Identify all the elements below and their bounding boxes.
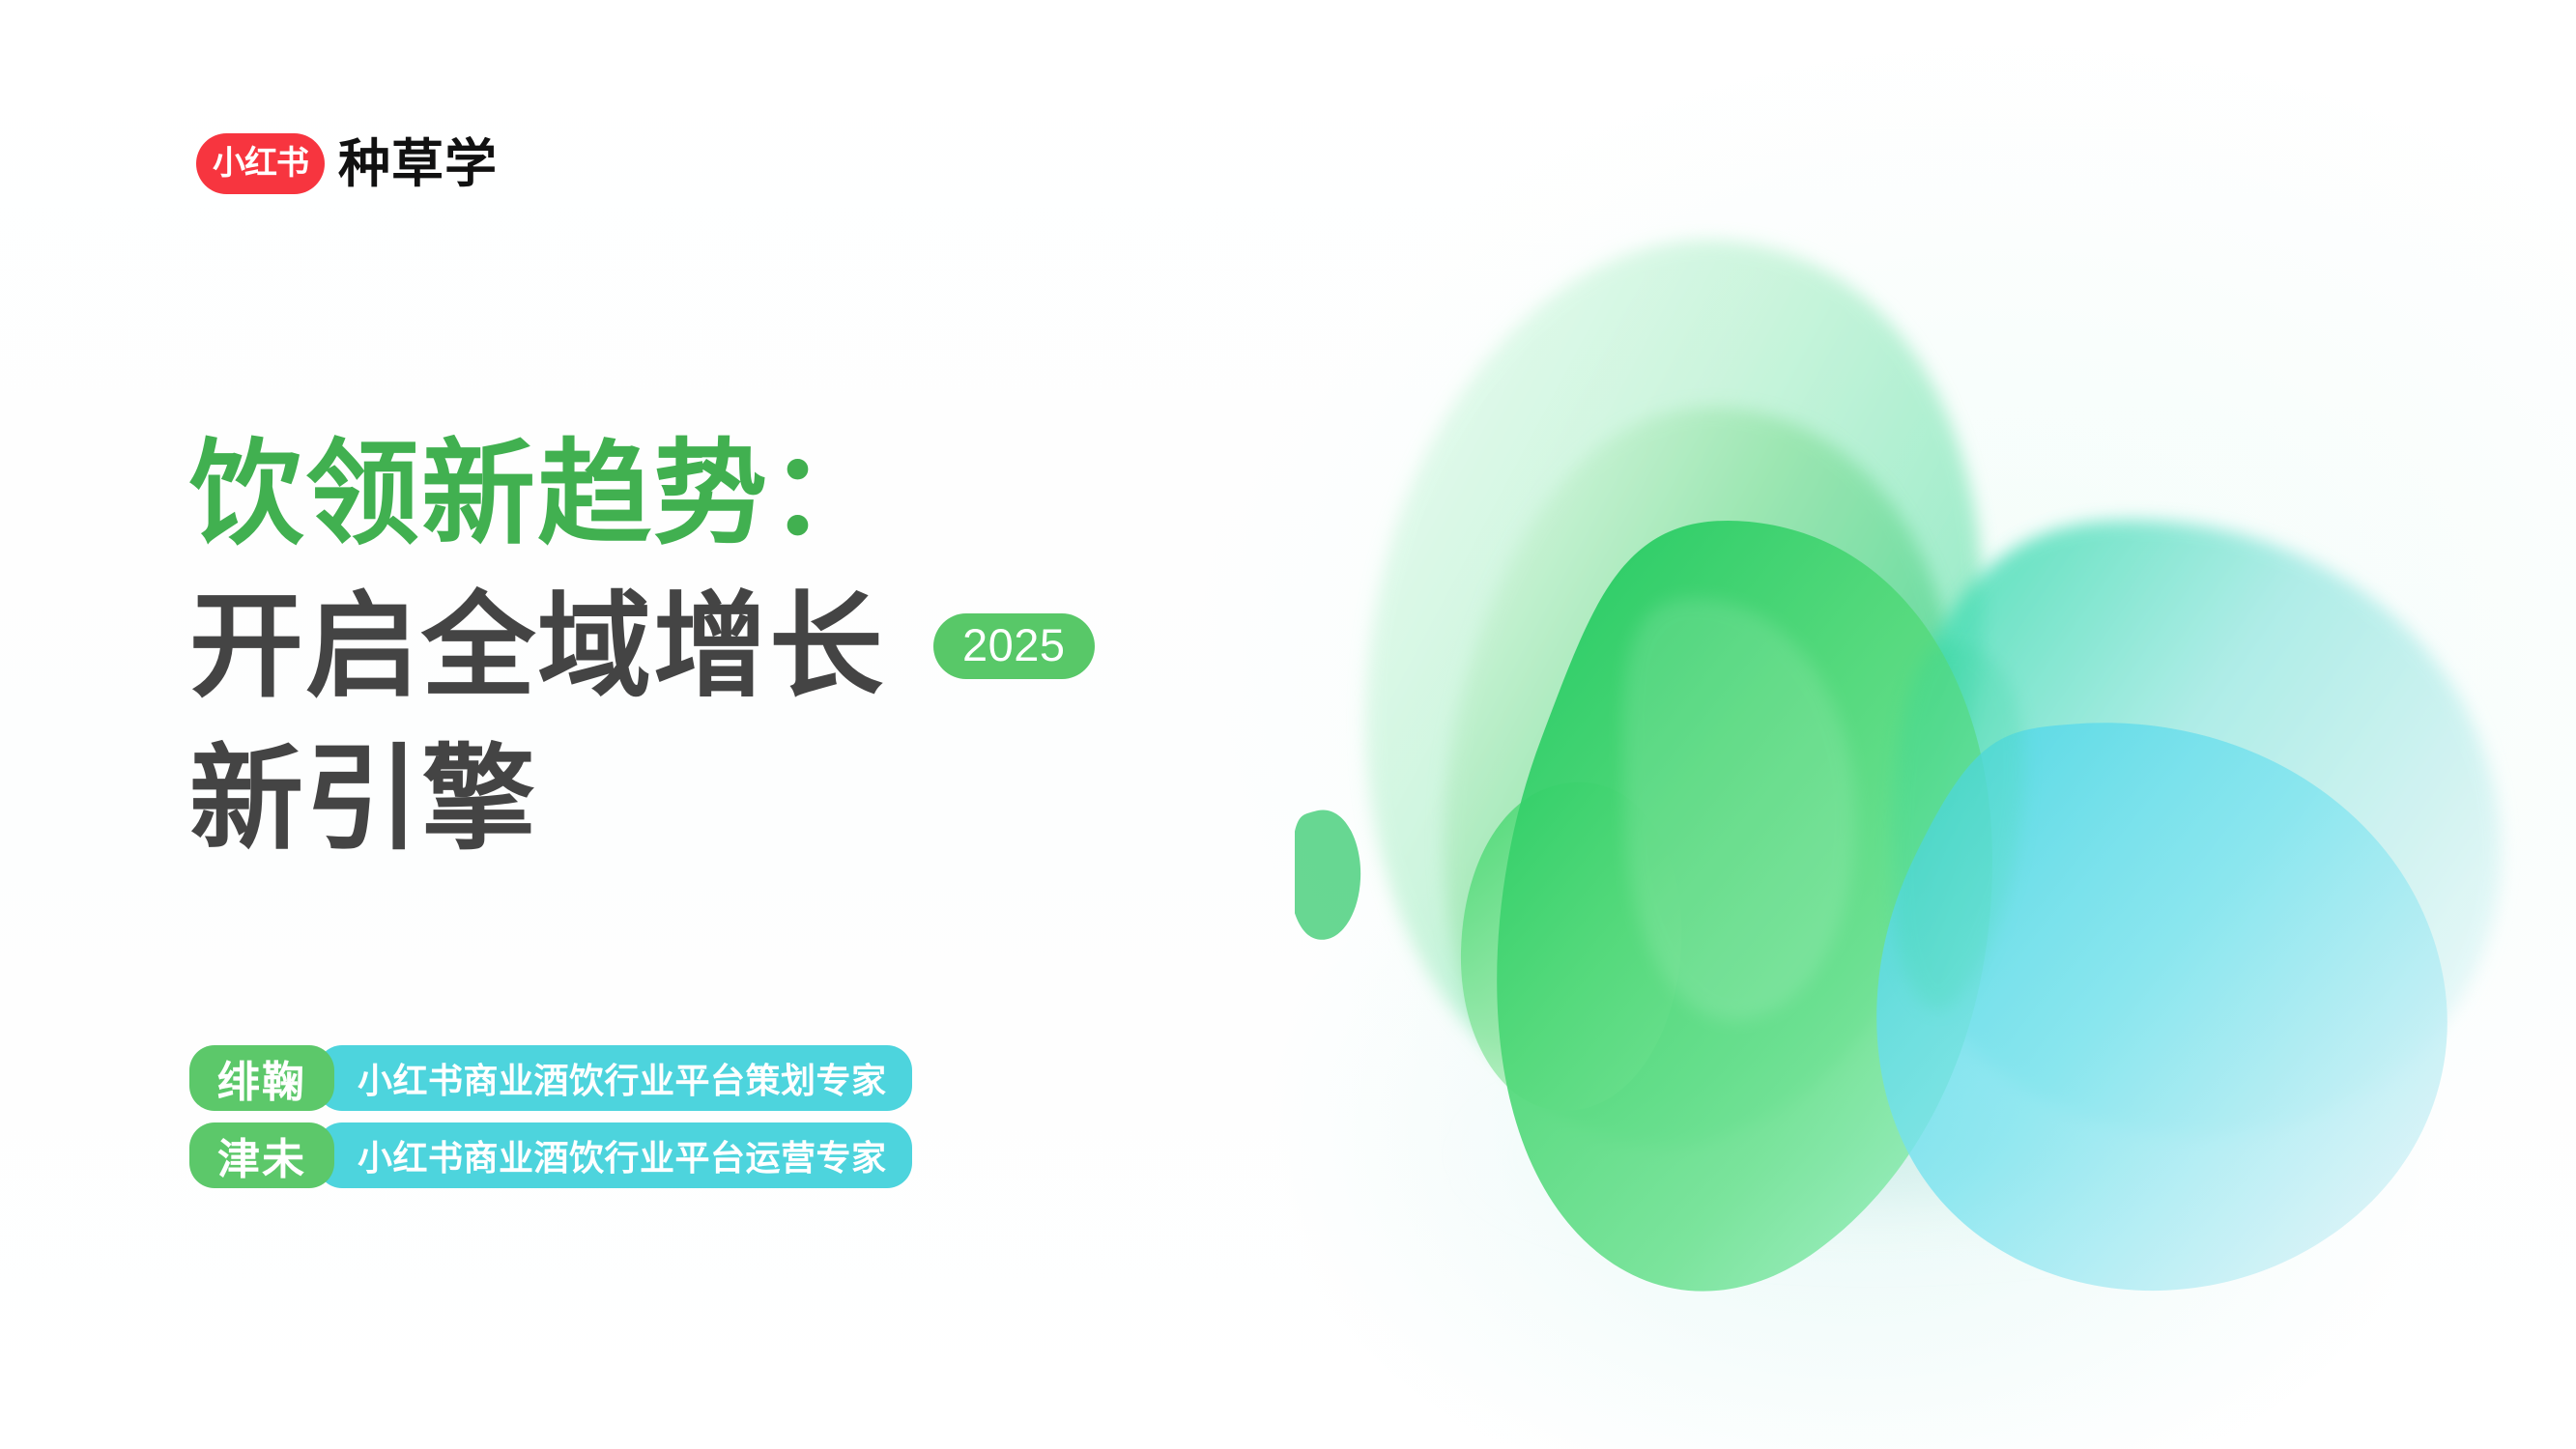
petal-overlap-tint	[1892, 643, 2024, 1009]
speaker-list: 绯鞠 小红书商业酒饮行业平台策划专家 津未 小红书商业酒饮行业平台运营专家	[189, 1045, 912, 1200]
headline-line-2: 开启全域增长	[189, 570, 885, 723]
headline-row-3: 新引擎	[189, 723, 1397, 875]
speaker-title-badge: 小红书商业酒饮行业平台运营专家	[317, 1122, 912, 1188]
petal-main-green	[1497, 521, 1992, 1292]
brand-wordmark: 种草学	[338, 138, 498, 190]
headline-line-1: 饮领新趋势：	[189, 417, 885, 570]
petal-outer-pale-green	[1365, 240, 1983, 1105]
artwork-ground-shadow	[1459, 1063, 2290, 1246]
speaker-row: 津未 小红书商业酒饮行业平台运营专家	[189, 1122, 912, 1188]
speaker-row: 绯鞠 小红书商业酒饮行业平台策划专家	[189, 1045, 912, 1111]
speaker-title-badge: 小红书商业酒饮行业平台策划专家	[317, 1045, 912, 1111]
year-badge: 2025	[933, 613, 1095, 679]
xiaohongshu-logo-pill: 小红书	[196, 133, 325, 194]
petal-mid-green	[1444, 408, 1960, 1147]
speaker-name-badge: 津未	[189, 1122, 334, 1188]
petal-teal-right	[1883, 520, 2502, 1136]
speaker-name-badge: 绯鞠	[189, 1045, 334, 1111]
headline-row-2: 开启全域增长 2025	[189, 570, 1397, 723]
petal-artwork	[1295, 145, 2576, 1304]
petal-small-green-nub	[1461, 782, 1681, 1111]
headline-row-1: 饮领新趋势：	[189, 417, 1397, 570]
petal-cyan-front	[1876, 723, 2447, 1291]
headline-line-3: 新引擎	[189, 723, 537, 875]
xiaohongshu-logo-text: 小红书	[213, 147, 308, 180]
headline-block: 饮领新趋势： 开启全域增长 2025 新引擎	[189, 417, 1397, 875]
slide-canvas: 小红书 种草学 饮领新趋势： 开启全域增长 2025 新引擎 绯鞠 小红书商业酒…	[0, 0, 2576, 1449]
petal-highlight	[1623, 598, 1855, 1020]
brand-logo: 小红书 种草学	[196, 133, 498, 194]
